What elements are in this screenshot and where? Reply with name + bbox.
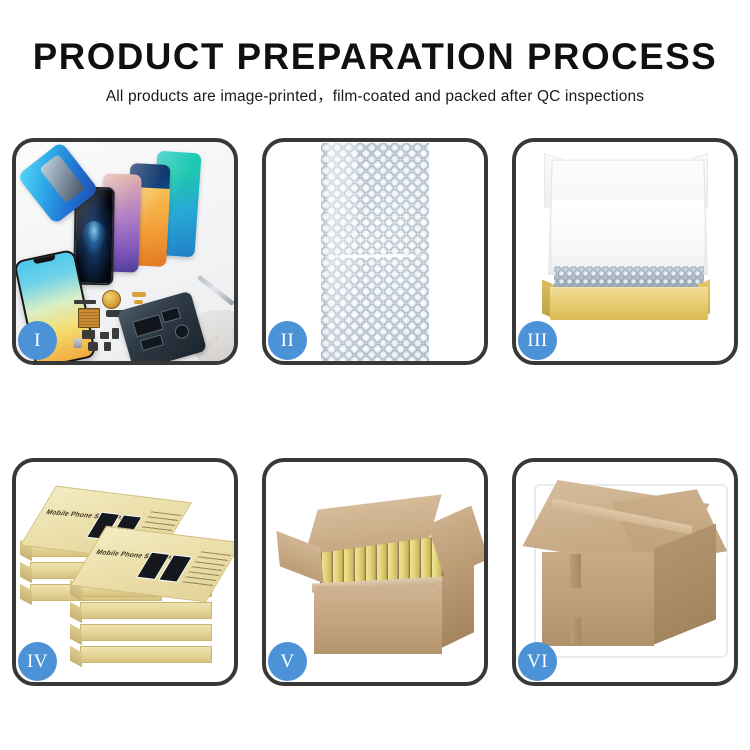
ic-chip-grid <box>78 308 100 328</box>
step-panel-1: I <box>12 138 238 365</box>
box-side <box>70 646 82 667</box>
sealed-carton-front <box>542 552 654 646</box>
page-subtitle: All products are image-printed，film-coat… <box>0 86 750 108</box>
box-side <box>70 624 82 645</box>
retail-box-edge-7 <box>80 646 212 663</box>
step-2-image: II <box>266 142 484 361</box>
box-side <box>20 584 32 605</box>
mailer-inner-liner <box>552 200 704 270</box>
step-6-image: VI <box>516 462 734 682</box>
header: PRODUCT PREPARATION PROCESS All products… <box>0 36 750 108</box>
small-part-2 <box>100 332 109 339</box>
camera-lens <box>173 323 190 340</box>
step-badge-1: I <box>18 321 57 360</box>
retail-box-edge-6 <box>80 624 212 641</box>
earpiece-mesh <box>74 300 96 304</box>
flex-cable-1 <box>132 292 146 297</box>
step-panel-6: VI <box>512 458 738 686</box>
step-1-image: I <box>16 142 234 361</box>
process-row-top: I II <box>12 138 738 365</box>
retail-box-edge-5 <box>80 602 212 619</box>
sim-tray <box>74 338 82 348</box>
packing-tape-front-upper <box>570 554 581 588</box>
step-panel-2: II <box>262 138 488 365</box>
bubble-wrap-sleeve <box>321 143 429 361</box>
bubble-wrap-highlight <box>327 143 357 361</box>
mailer-front-panel <box>550 290 708 320</box>
step-3-image: III <box>516 142 734 361</box>
step-4-image: Mobile Phone Spare Parts Mobile Phone Sp… <box>16 462 234 682</box>
step-5-image: V <box>266 462 484 682</box>
box-side <box>70 602 82 623</box>
step-panel-5: V <box>262 458 488 686</box>
step-badge-5: V <box>268 642 307 681</box>
mainboard-chip-3 <box>140 334 164 351</box>
step-panel-3: III <box>512 138 738 365</box>
small-part-3 <box>112 328 119 339</box>
box-side <box>20 562 32 583</box>
step-badge-6: VI <box>518 642 557 681</box>
camera-module <box>88 342 98 351</box>
small-part-4 <box>104 342 111 351</box>
page-title: PRODUCT PREPARATION PROCESS <box>4 36 747 78</box>
small-part-1 <box>82 330 95 339</box>
product-preparation-infographic: PRODUCT PREPARATION PROCESS All products… <box>0 0 750 750</box>
speaker-part <box>102 290 121 309</box>
step-badge-3: III <box>518 321 557 360</box>
carton-front-panel <box>314 586 442 654</box>
step-badge-4: IV <box>18 642 57 681</box>
process-row-bottom: Mobile Phone Spare Parts Mobile Phone Sp… <box>12 458 738 686</box>
mainboard-chip-2 <box>161 307 182 323</box>
step-badge-2: II <box>268 321 307 360</box>
carton-side-panel <box>442 562 474 648</box>
packing-tape-front-lower <box>570 618 581 644</box>
step-panel-4: Mobile Phone Spare Parts Mobile Phone Sp… <box>12 458 238 686</box>
